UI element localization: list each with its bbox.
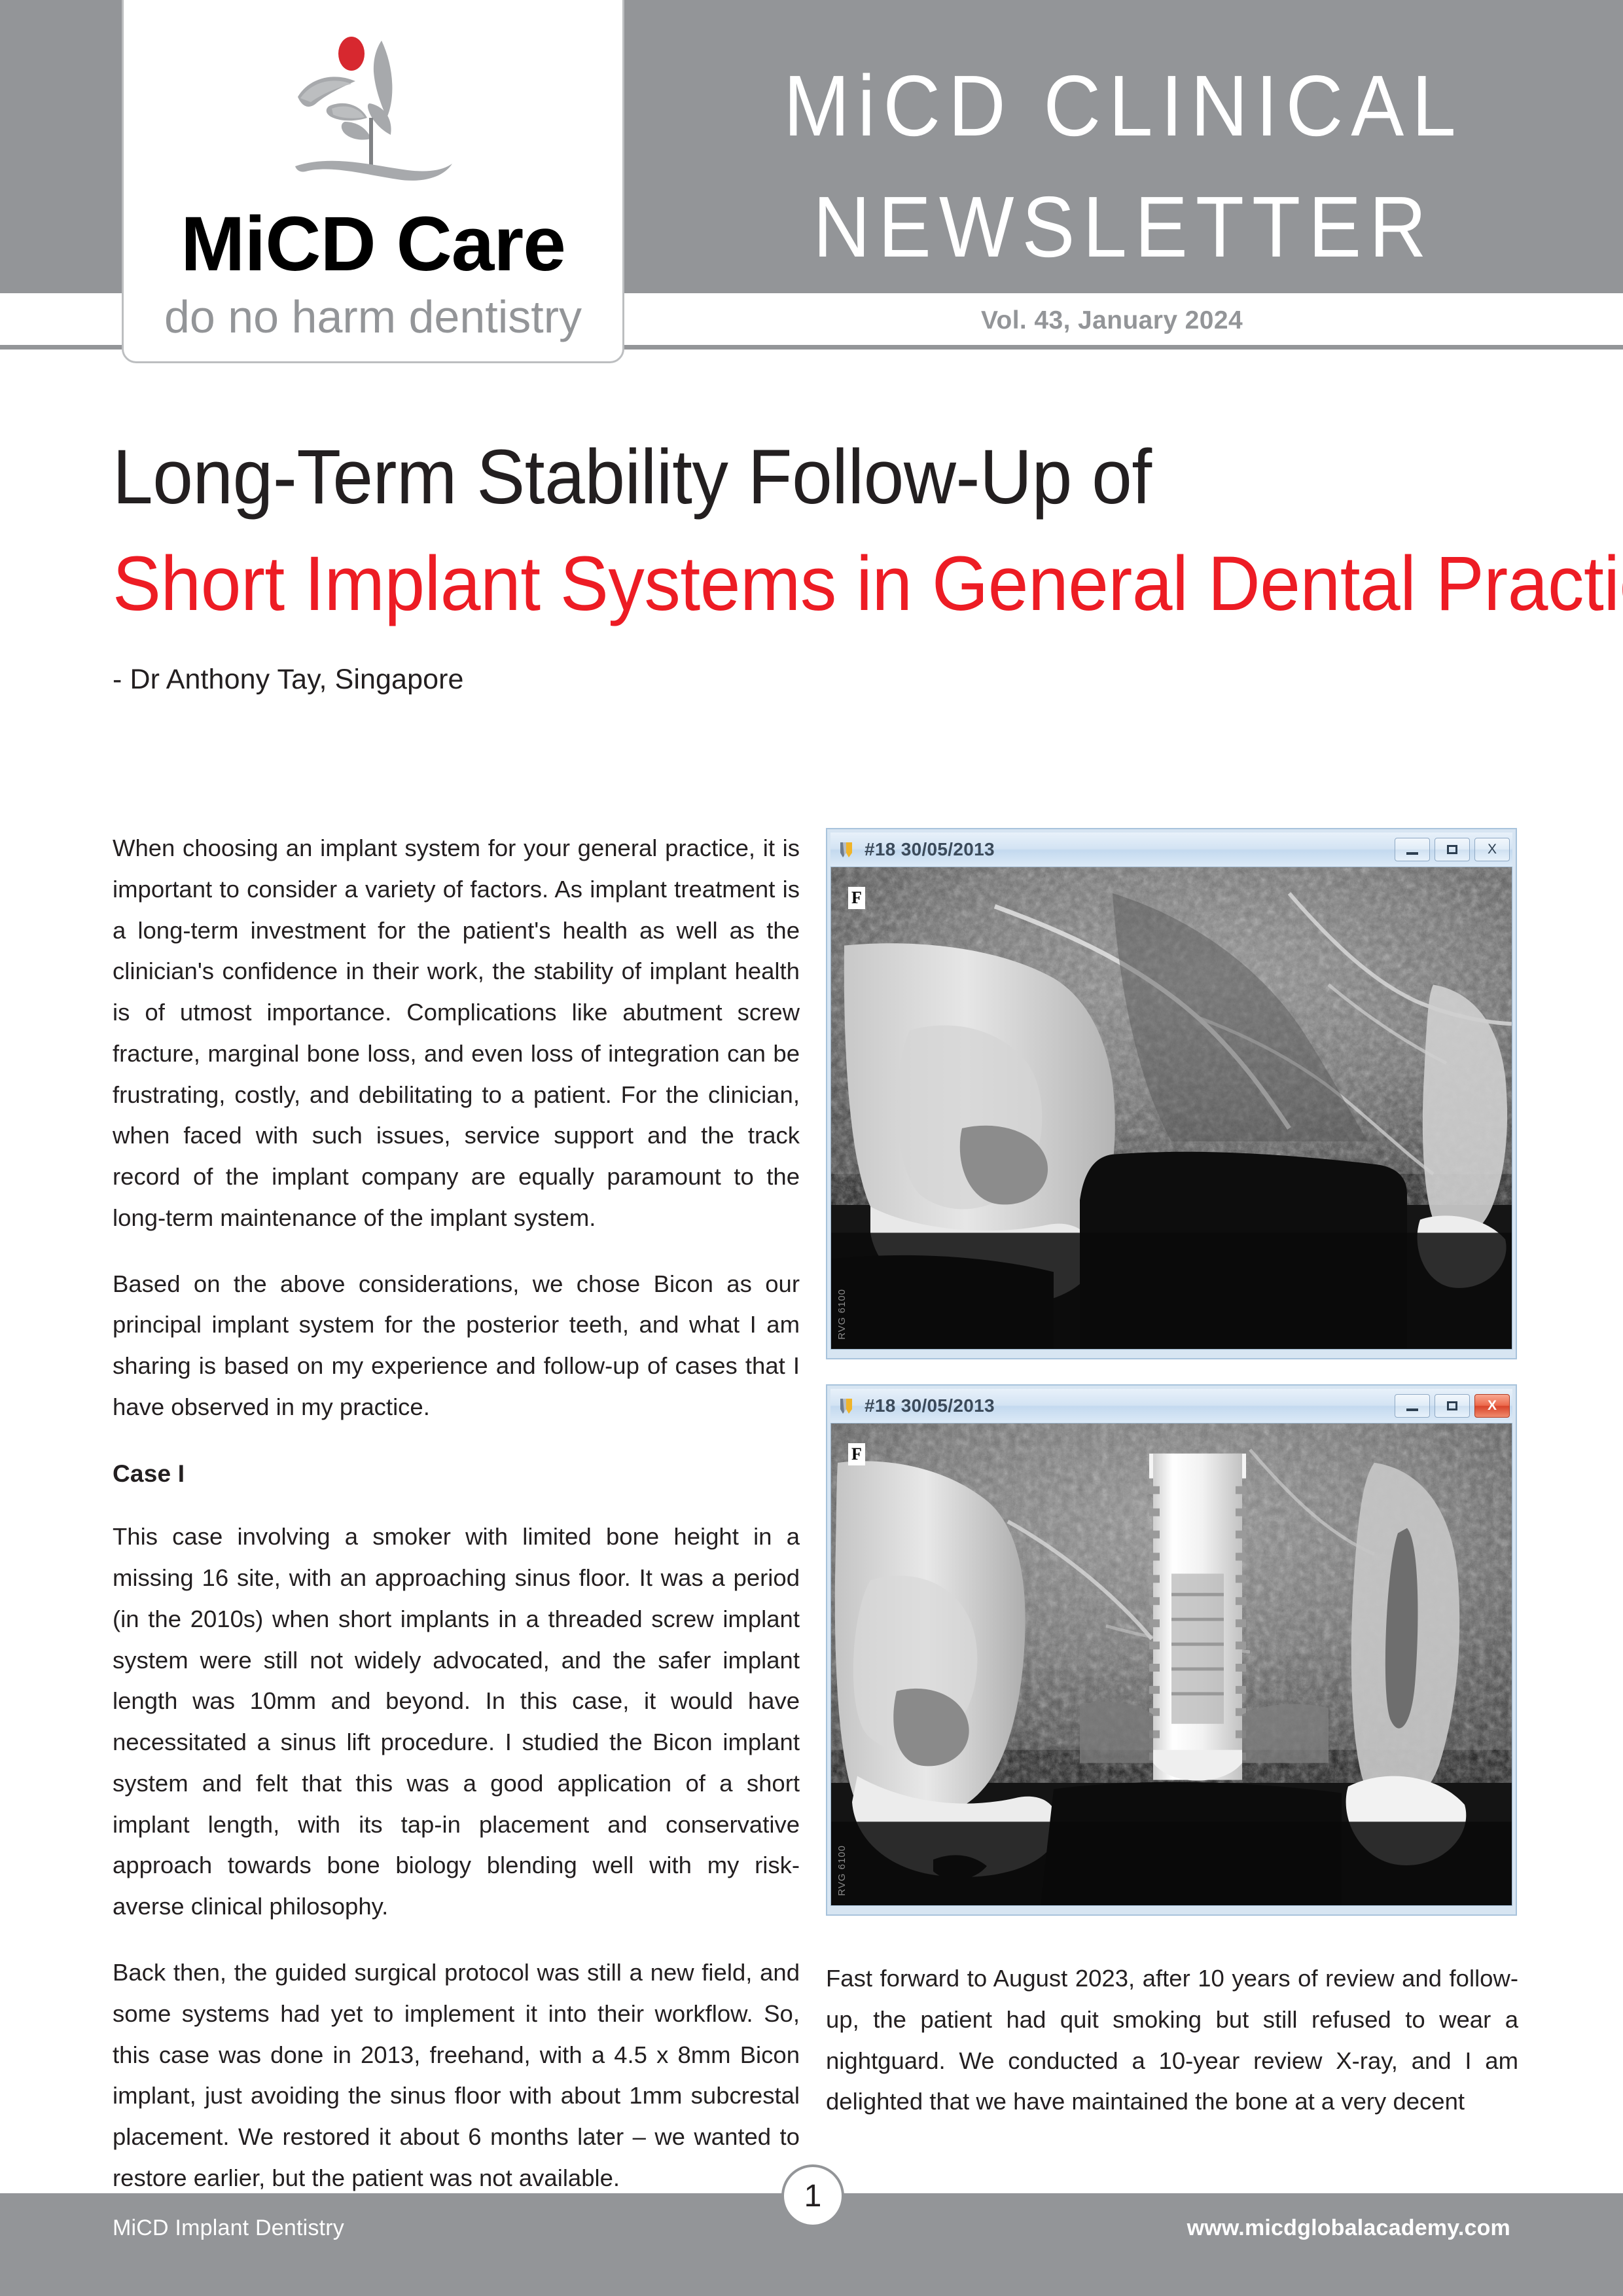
page-number-badge: 1 (781, 2164, 844, 2227)
article-title-block: Long-Term Stability Follow-Up of Short I… (113, 432, 1513, 696)
paragraph: When choosing an implant system for your… (113, 828, 800, 1239)
window-title-text: #18 30/05/2013 (865, 1395, 995, 1416)
app-icon (837, 840, 857, 859)
logo-tagline: do no harm dentistry (164, 289, 582, 344)
maximize-icon[interactable] (1435, 838, 1470, 861)
body-column-left: When choosing an implant system for your… (113, 828, 800, 2199)
logo-card: MiCD Care do no harm dentistry (122, 0, 624, 363)
window-controls[interactable]: X (1395, 838, 1510, 861)
implant-fixture (1149, 1454, 1246, 1781)
body-column-right: Fast forward to August 2023, after 10 ye… (826, 1958, 1518, 2123)
article-title-line-2: Short Implant Systems in General Dental … (113, 539, 1429, 630)
footer-website-link[interactable]: www.micdglobalacademy.com (1187, 2215, 1510, 2241)
footer-left-text: MiCD Implant Dentistry (113, 2215, 344, 2241)
sensor-watermark: RVG 6100 (836, 1845, 847, 1896)
orientation-marker: F (848, 1443, 865, 1465)
masthead-line-1: MiCD CLINICAL (664, 46, 1583, 167)
window-title-text: #18 30/05/2013 (865, 839, 995, 860)
xray-window-tenyear-review[interactable]: #18 30/05/2013 X (826, 1384, 1517, 1916)
masthead-line-2: NEWSLETTER (664, 167, 1583, 288)
minimize-icon[interactable] (1395, 838, 1430, 861)
article-byline: - Dr Anthony Tay, Singapore (113, 664, 1513, 696)
sensor-watermark: RVG 6100 (836, 1289, 847, 1340)
app-icon (837, 1396, 857, 1416)
maximize-icon[interactable] (1435, 1394, 1470, 1418)
orientation-marker: F (848, 887, 865, 909)
paragraph: Fast forward to August 2023, after 10 ye… (826, 1958, 1518, 2123)
close-icon[interactable]: X (1474, 838, 1510, 861)
xray-image-implant: F RVG 6100 (830, 1423, 1512, 1906)
logo-wordmark: MiCD Care (181, 206, 565, 283)
paragraph: This case involving a smoker with limite… (113, 1516, 800, 1928)
article-title-line-1: Long-Term Stability Follow-Up of (113, 432, 1429, 523)
close-icon[interactable]: X (1474, 1394, 1510, 1418)
minimize-icon[interactable] (1395, 1394, 1430, 1418)
micd-sprout-logo-icon (272, 26, 474, 203)
paragraph: Based on the above considerations, we ch… (113, 1264, 800, 1428)
window-titlebar[interactable]: #18 30/05/2013 X (830, 1389, 1512, 1423)
masthead-title: MiCD CLINICAL NEWSLETTER (664, 46, 1583, 288)
xray-image-preop: F RVG 6100 (830, 867, 1512, 1350)
case-heading: Case I (113, 1453, 800, 1495)
xray-window-preop[interactable]: #18 30/05/2013 X (826, 828, 1517, 1359)
window-controls[interactable]: X (1395, 1394, 1510, 1418)
window-titlebar[interactable]: #18 30/05/2013 X (830, 833, 1512, 867)
paragraph: Back then, the guided surgical protocol … (113, 1952, 800, 2199)
volume-issue-line: Vol. 43, January 2024 (624, 306, 1599, 335)
